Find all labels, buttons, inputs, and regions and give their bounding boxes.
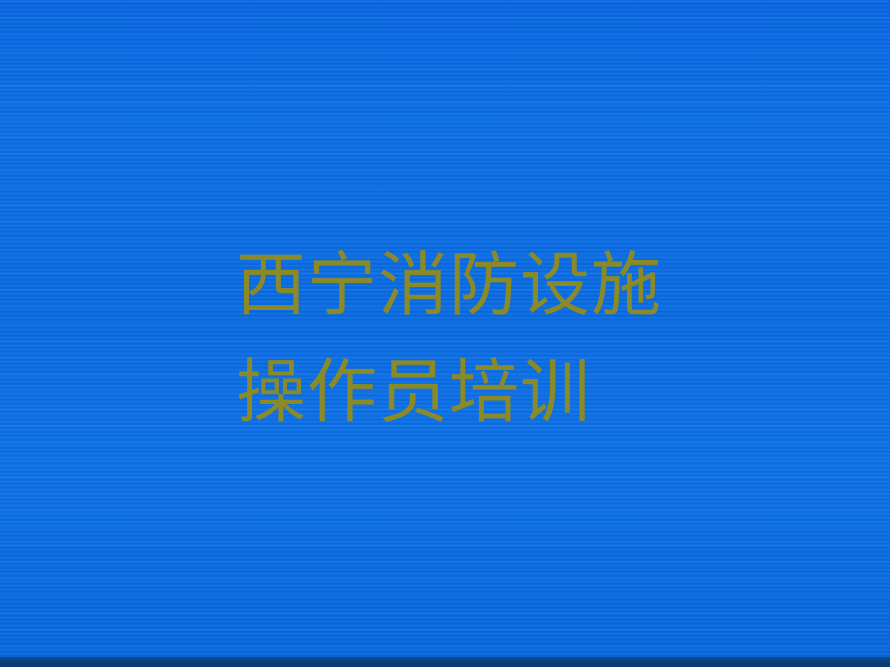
banner-title-line-1: 西宁消防设施	[236, 232, 856, 339]
banner-title: 西宁消防设施 操作员培训	[236, 232, 856, 446]
promo-banner: 西宁消防设施 操作员培训	[0, 0, 890, 667]
banner-title-line-2: 操作员培训	[236, 339, 856, 446]
bottom-accent-strip	[0, 657, 890, 667]
